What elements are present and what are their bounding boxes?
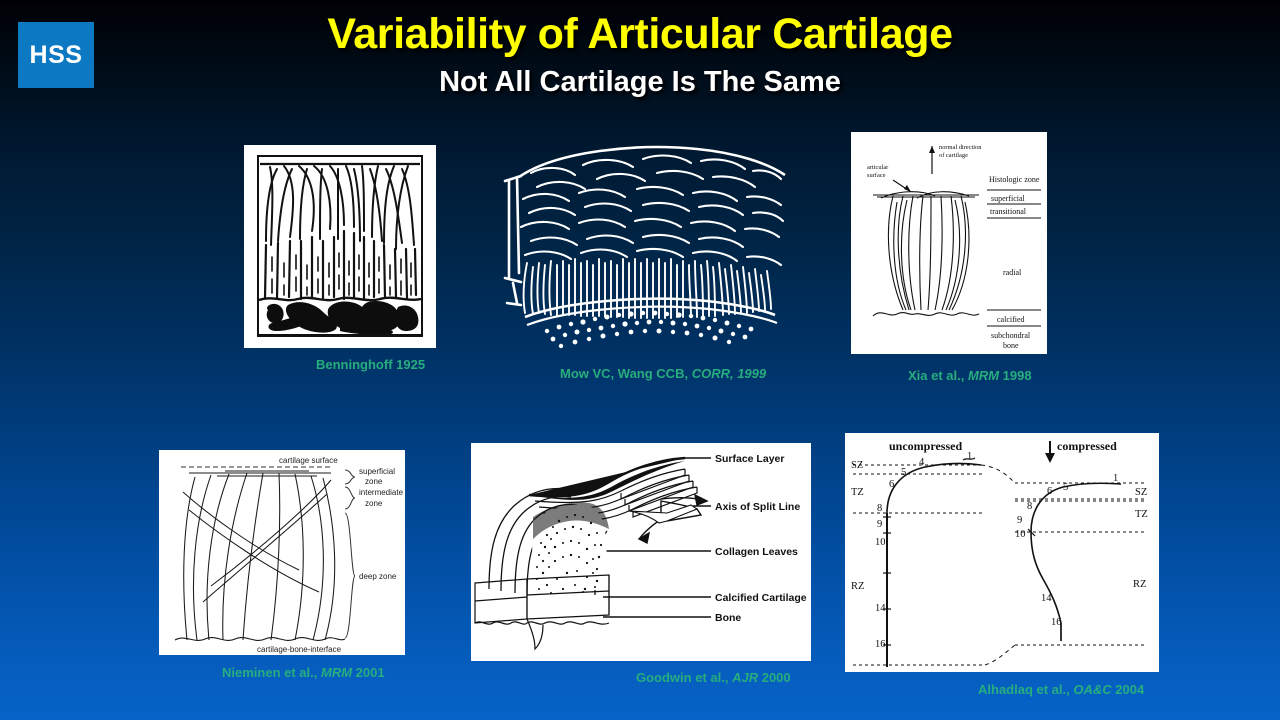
alhadlaq-left-num-14: 14 (875, 603, 886, 614)
xia-label-transitional: transitional (990, 207, 1027, 216)
xia-label-calcified: calcified (997, 315, 1025, 324)
caption-mow-wang-italic: CORR, 1999 (692, 366, 766, 381)
caption-nieminen-year: 2001 (356, 665, 385, 680)
xia-label-normal-direction-2: of cartilage (939, 152, 968, 159)
goodwin-label-calcified-cartilage: Calcified Cartilage (715, 592, 807, 604)
alhadlaq-left-num-8: 8 (877, 503, 882, 514)
figure-mow-wang (487, 143, 797, 358)
goodwin-label-surface-layer: Surface Layer (715, 453, 784, 465)
alhadlaq-right-zone-sz: SZ (1135, 487, 1147, 498)
alhadlaq-left-num-1: 1 (967, 451, 972, 462)
alhadlaq-left-num-10: 10 (875, 537, 886, 548)
alhadlaq-left-num-4: 4 (919, 457, 925, 468)
xia-label-radial: radial (1003, 268, 1022, 277)
alhadlaq-left-zone-rz: RZ (851, 581, 864, 592)
caption-goodwin: Goodwin et al., AJR 2000 (636, 670, 791, 685)
xia-label-histologic-zone: Histologic zone (989, 175, 1040, 184)
goodwin-label-collagen-leaves: Collagen Leaves (715, 546, 798, 558)
caption-alhadlaq-year: 2004 (1115, 682, 1144, 697)
slide-canvas: HSS Variability of Articular Cartilage N… (0, 0, 1280, 720)
figure-nieminen: cartilage surface (159, 450, 405, 655)
xia-drawing: normal direction of cartilage articular … (851, 132, 1047, 354)
caption-benninghoff: Benninghoff 1925 (316, 357, 425, 372)
caption-goodwin-text: Goodwin et al., (636, 670, 728, 685)
alhadlaq-right-zone-tz: TZ (1135, 509, 1148, 520)
nieminen-label-deep-zone: deep zone (359, 572, 397, 581)
xia-label-normal-direction-1: normal direction (939, 144, 982, 151)
alhadlaq-right-num-9: 9 (1017, 515, 1022, 526)
nieminen-label-intermediate: intermediate (359, 488, 404, 497)
goodwin-label-axis-split-line: Axis of Split Line (715, 501, 800, 513)
alhadlaq-left-num-9: 9 (877, 519, 882, 530)
nieminen-label-cartilage-bone-interface: cartilage-bone-interface (257, 645, 342, 654)
figure-benninghoff (244, 145, 436, 348)
alhadlaq-drawing: uncompressed compressed SZ TZ RZ (845, 433, 1159, 672)
alhadlaq-right-zone-rz: RZ (1133, 579, 1146, 590)
caption-xia: Xia et al., MRM 1998 (908, 368, 1032, 383)
goodwin-label-bone: Bone (715, 612, 741, 624)
alhadlaq-right-num-10: 10 (1015, 529, 1026, 540)
alhadlaq-label-compressed: compressed (1057, 439, 1117, 453)
alhadlaq-right-num-16: 16 (1051, 617, 1062, 628)
alhadlaq-left-zone-sz: SZ (851, 460, 863, 471)
caption-xia-year: 1998 (1003, 368, 1032, 383)
alhadlaq-right-num-5: 5 (1063, 482, 1068, 493)
page-subtitle: Not All Cartilage Is The Same (0, 66, 1280, 99)
benninghoff-drawing (244, 145, 436, 348)
figure-alhadlaq: uncompressed compressed SZ TZ RZ (845, 433, 1159, 672)
nieminen-label-superficial: superficial (359, 467, 395, 476)
alhadlaq-left-num-6: 6 (889, 479, 894, 490)
alhadlaq-label-uncompressed: uncompressed (889, 439, 962, 453)
nieminen-label-cartilage-surface: cartilage surface (279, 456, 338, 465)
xia-label-articular-2: surface (867, 172, 886, 179)
alhadlaq-right-num-6: 6 (1047, 486, 1052, 497)
nieminen-drawing: cartilage surface (159, 450, 405, 655)
mow-wang-drawing (487, 143, 797, 358)
figure-goodwin: Surface Layer Axis of Split Line Collage… (471, 443, 811, 661)
alhadlaq-right-num-1: 1 (1113, 473, 1118, 484)
caption-nieminen-text: Nieminen et al., (222, 665, 317, 680)
caption-goodwin-italic: AJR (732, 670, 758, 685)
alhadlaq-left-num-5: 5 (901, 467, 906, 478)
caption-alhadlaq-text: Alhadlaq et al., (978, 682, 1070, 697)
xia-label-articular-1: articular (867, 164, 889, 171)
caption-alhadlaq: Alhadlaq et al., OA&C 2004 (978, 682, 1144, 697)
caption-benninghoff-text: Benninghoff 1925 (316, 357, 425, 372)
xia-label-superficial: superficial (991, 194, 1026, 203)
caption-xia-text: Xia et al., (908, 368, 964, 383)
nieminen-label-intermediate-zone: zone (365, 499, 383, 508)
figure-xia: normal direction of cartilage articular … (851, 132, 1047, 354)
alhadlaq-right-num-8: 8 (1027, 501, 1032, 512)
alhadlaq-left-zone-tz: TZ (851, 487, 864, 498)
alhadlaq-right-num-14: 14 (1041, 593, 1052, 604)
caption-mow-wang-text: Mow VC, Wang CCB, (560, 366, 688, 381)
alhadlaq-left-num-16: 16 (875, 639, 886, 650)
caption-xia-italic: MRM (968, 368, 999, 383)
caption-nieminen-italic: MRM (321, 665, 352, 680)
xia-label-subchondral: subchondral (991, 331, 1031, 340)
xia-label-bone: bone (1003, 341, 1019, 350)
nieminen-label-superficial-zone: zone (365, 477, 383, 486)
caption-goodwin-year: 2000 (762, 670, 791, 685)
caption-mow-wang: Mow VC, Wang CCB, CORR, 1999 (560, 366, 766, 381)
caption-alhadlaq-italic: OA&C (1073, 682, 1111, 697)
goodwin-drawing: Surface Layer Axis of Split Line Collage… (471, 443, 811, 661)
caption-nieminen: Nieminen et al., MRM 2001 (222, 665, 385, 680)
page-title: Variability of Articular Cartilage (0, 12, 1280, 57)
